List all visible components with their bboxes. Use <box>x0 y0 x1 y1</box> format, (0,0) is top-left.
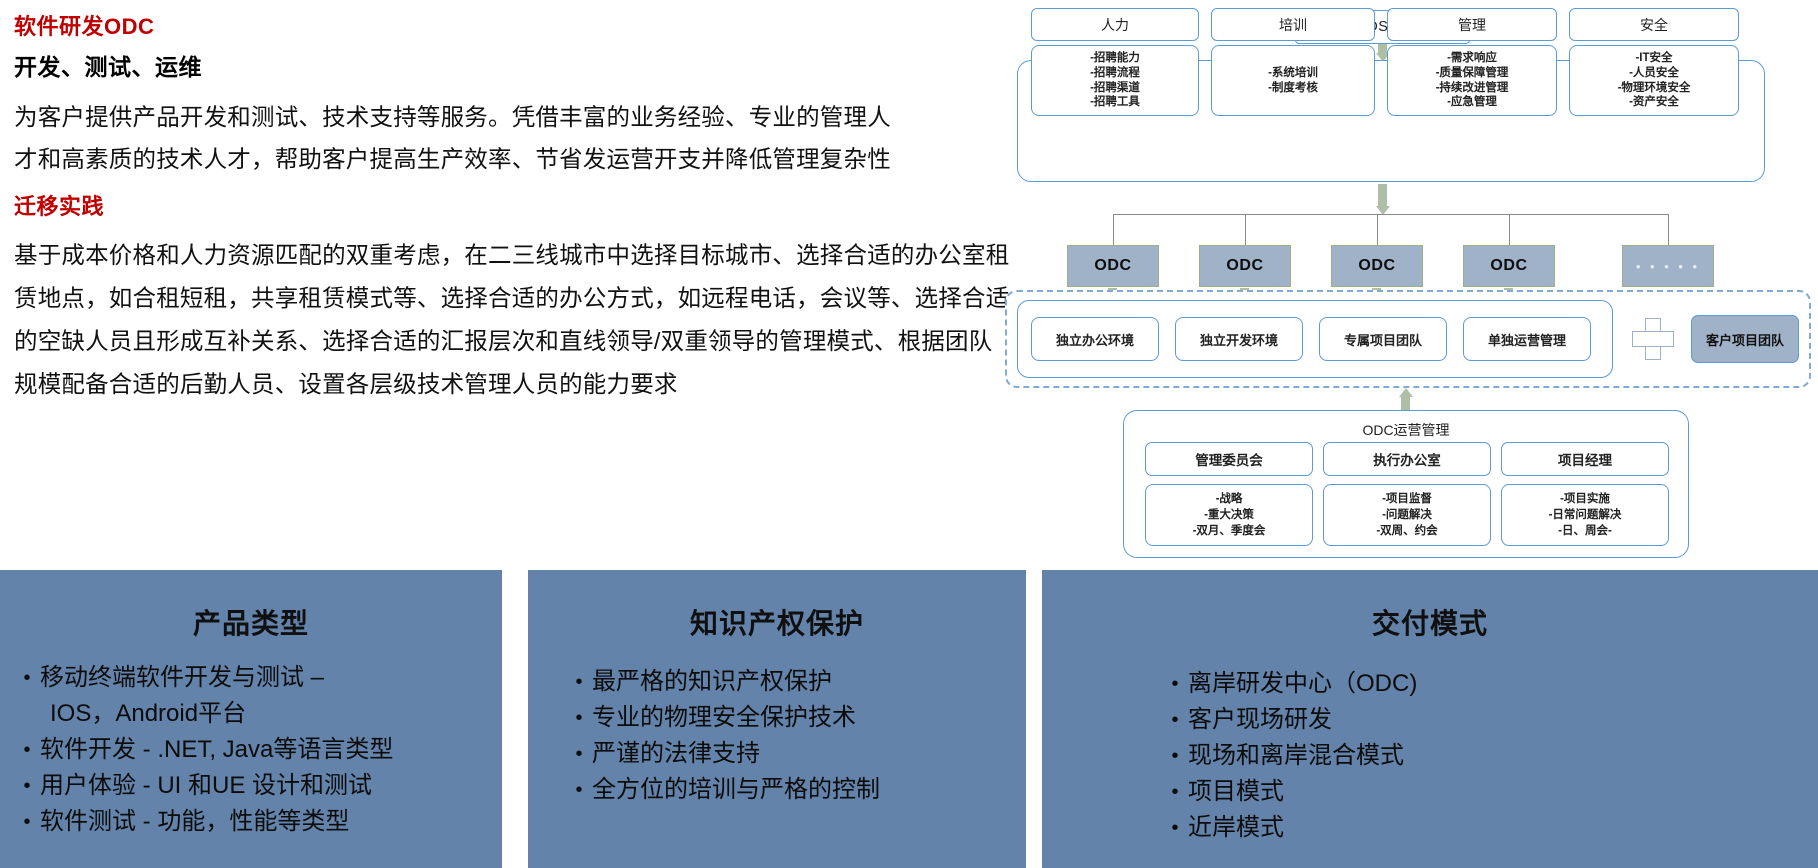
ops-item: -项目监督 <box>1382 491 1432 507</box>
list-item: • 用户体验 - UI 和UE 设计和测试 <box>14 768 502 804</box>
panel-title: 产品类型 <box>0 570 502 642</box>
odc-rail-drop-2 <box>1245 214 1246 246</box>
list-item-label: 移动终端软件开发与测试 – <box>40 664 324 691</box>
list-item-sublabel: IOS，Android平台 <box>40 696 502 732</box>
pillar-item: -招聘渠道 <box>1090 81 1140 96</box>
list-item: • 现场和离岸混合模式 <box>1162 738 1818 774</box>
list-item: • 离岸研发中心（ODC) <box>1162 666 1818 702</box>
heading-dev-test-ops: 开发、测试、运维 <box>14 54 1014 82</box>
heading-migration-practice: 迁移实践 <box>14 194 1014 220</box>
arrow-pillars-to-odc <box>1375 184 1390 215</box>
ops-item: -战略 <box>1216 491 1243 507</box>
panel-list: • 移动终端软件开发与测试 – IOS，Android平台 • 软件开发 - .… <box>0 660 502 840</box>
ops-header-pm: 项目经理 <box>1501 442 1669 476</box>
pillar-body-security: -IT安全 -人员安全 -物理环境安全 -资产安全 <box>1569 45 1739 116</box>
pillar-item: -系统培训 <box>1268 66 1318 81</box>
ops-header-committee: 管理委员会 <box>1145 442 1313 476</box>
pillar-item: -物理环境安全 <box>1618 81 1691 96</box>
list-item: • 严谨的法律支持 <box>566 736 1026 772</box>
ops-body-pm: -项目实施 -日常问题解决 -日、周会- <box>1501 484 1669 546</box>
pillar-item: -招聘流程 <box>1090 66 1140 81</box>
list-item-label: 离岸研发中心（ODC) <box>1188 666 1818 702</box>
ops-item: -双周、约会 <box>1376 523 1437 539</box>
bottom-panels: 产品类型 • 移动终端软件开发与测试 – IOS，Android平台 • 软件开… <box>0 570 1818 868</box>
pillar-item: -招聘工具 <box>1090 95 1140 110</box>
ops-item: -日、周会- <box>1558 523 1612 539</box>
ops-item: -日常问题解决 <box>1549 507 1622 523</box>
list-item: • 项目模式 <box>1162 774 1818 810</box>
pillar-item: -IT安全 <box>1635 51 1672 66</box>
ops-header-office: 执行办公室 <box>1323 442 1491 476</box>
odc-operations-title: ODC运营管理 <box>1123 410 1689 440</box>
slide-root: 软件研发ODC 开发、测试、运维 为客户提供产品开发和测试、技术支持等服务。凭借… <box>0 0 1818 868</box>
ops-body-committee: -战略 -重大决策 -双月、季度会 <box>1145 484 1313 546</box>
list-item-label: 近岸模式 <box>1188 810 1818 846</box>
pillar-header-training: 培训 <box>1211 8 1375 41</box>
panel-product-types: 产品类型 • 移动终端软件开发与测试 – IOS，Android平台 • 软件开… <box>0 570 502 868</box>
odc-rail-drop-3 <box>1377 214 1378 246</box>
pillar-body-training: -系统培训 -制度考核 <box>1211 45 1375 116</box>
list-item-label: 严谨的法律支持 <box>592 736 1026 772</box>
capability-independent-office: 独立办公环境 <box>1031 317 1159 361</box>
bullet-icon: • <box>14 660 40 696</box>
list-item-label: 全方位的培训与严格的控制 <box>592 772 1026 808</box>
bullet-icon: • <box>1162 774 1188 810</box>
list-item-label: 最严格的知识产权保护 <box>592 664 1026 700</box>
bullet-icon: • <box>1162 810 1188 846</box>
list-item: • 移动终端软件开发与测试 – IOS，Android平台 <box>14 660 502 732</box>
list-item-label: 软件开发 - .NET, Java等语言类型 <box>40 732 502 768</box>
list-item: • 最严格的知识产权保护 <box>566 664 1026 700</box>
list-item-label: 用户体验 - UI 和UE 设计和测试 <box>40 768 502 804</box>
odc-rail-drop-4 <box>1509 214 1510 246</box>
pillar-item: -应急管理 <box>1447 95 1497 110</box>
heading-software-rnd-odc: 软件研发ODC <box>14 14 1014 40</box>
bullet-icon: • <box>14 804 40 840</box>
pillar-item: -招聘能力 <box>1090 51 1140 66</box>
list-item: • 专业的物理安全保护技术 <box>566 700 1026 736</box>
paragraph-services: 为客户提供产品开发和测试、技术支持等服务。凭借丰富的业务经验、专业的管理人才和高… <box>14 96 894 180</box>
list-item-label: 软件测试 - 功能，性能等类型 <box>40 804 502 840</box>
ops-item: -项目实施 <box>1560 491 1610 507</box>
capability-dedicated-team: 专属项目团队 <box>1319 317 1447 361</box>
left-text-column: 软件研发ODC 开发、测试、运维 为客户提供产品开发和测试、技术支持等服务。凭借… <box>14 14 1014 406</box>
odc-rail-drop-5 <box>1668 214 1669 246</box>
bullet-icon: • <box>1162 702 1188 738</box>
bullet-icon: • <box>566 772 592 808</box>
bullet-icon: • <box>14 768 40 804</box>
bullet-icon: • <box>566 664 592 700</box>
list-item: • 软件测试 - 功能，性能等类型 <box>14 804 502 840</box>
odc-rail-horizontal <box>1113 214 1669 215</box>
arrow-ops-to-delivery <box>1398 388 1413 411</box>
bullet-icon: • <box>1162 738 1188 774</box>
ops-item: -双月、季度会 <box>1193 523 1266 539</box>
pillar-body-management: -需求响应 -质量保障管理 -持续改进管理 -应急管理 <box>1387 45 1557 116</box>
pillar-header-security: 安全 <box>1569 8 1739 41</box>
panel-title: 知识产权保护 <box>528 570 1026 642</box>
ops-body-office: -项目监督 -问题解决 -双周、约会 <box>1323 484 1491 546</box>
odc-node-3: ODC <box>1331 245 1423 287</box>
odc-node-more: • • • • • <box>1622 245 1714 287</box>
panel-title: 交付模式 <box>1042 570 1818 642</box>
list-item: • 全方位的培训与严格的控制 <box>566 772 1026 808</box>
odc-structure-diagram: HYDSOFT 人力 -招聘能力 -招聘流程 -招聘渠道 -招聘工具 培训 -系… <box>1005 2 1815 492</box>
bullet-icon: • <box>14 732 40 768</box>
pillar-item: -需求响应 <box>1447 51 1497 66</box>
list-item-label: 客户现场研发 <box>1188 702 1818 738</box>
list-item: • 客户现场研发 <box>1162 702 1818 738</box>
panel-delivery-models: 交付模式 • 离岸研发中心（ODC) • 客户现场研发 • 现场和离岸混合模式 … <box>1042 570 1818 868</box>
ops-item: -问题解决 <box>1382 507 1432 523</box>
list-item-label: 专业的物理安全保护技术 <box>592 700 1026 736</box>
bullet-icon: • <box>566 736 592 772</box>
panel-ip-protection: 知识产权保护 • 最严格的知识产权保护 • 专业的物理安全保护技术 • 严谨的法… <box>528 570 1026 868</box>
paragraph-migration: 基于成本价格和人力资源匹配的双重考虑，在二三线城市中选择目标城市、选择合适的办公… <box>14 234 1014 406</box>
odc-node-4: ODC <box>1463 245 1555 287</box>
odc-node-2: ODC <box>1199 245 1291 287</box>
bullet-icon: • <box>566 700 592 736</box>
list-item-label: 现场和离岸混合模式 <box>1188 738 1818 774</box>
pillar-header-hr: 人力 <box>1031 8 1199 41</box>
panel-list: • 离岸研发中心（ODC) • 客户现场研发 • 现场和离岸混合模式 • 项目模… <box>1042 666 1818 846</box>
list-item: • 软件开发 - .NET, Java等语言类型 <box>14 732 502 768</box>
panel-list: • 最严格的知识产权保护 • 专业的物理安全保护技术 • 严谨的法律支持 • 全… <box>528 664 1026 808</box>
capability-independent-devenv: 独立开发环境 <box>1175 317 1303 361</box>
client-project-team-node: 客户项目团队 <box>1691 315 1799 363</box>
pillar-header-management: 管理 <box>1387 8 1557 41</box>
list-item-label: 项目模式 <box>1188 774 1818 810</box>
pillar-body-hr: -招聘能力 -招聘流程 -招聘渠道 -招聘工具 <box>1031 45 1199 116</box>
pillar-item: -制度考核 <box>1268 81 1318 96</box>
odc-node-1: ODC <box>1067 245 1159 287</box>
pillar-item: -人员安全 <box>1629 66 1679 81</box>
odc-rail-drop-1 <box>1113 214 1114 246</box>
capability-separate-operations: 单独运营管理 <box>1463 317 1591 361</box>
list-item: • 近岸模式 <box>1162 810 1818 846</box>
plus-icon <box>1632 318 1674 360</box>
pillar-item: -资产安全 <box>1629 95 1679 110</box>
pillar-item: -持续改进管理 <box>1436 81 1509 96</box>
ops-item: -重大决策 <box>1204 507 1254 523</box>
bullet-icon: • <box>1162 666 1188 702</box>
pillar-item: -质量保障管理 <box>1436 66 1509 81</box>
